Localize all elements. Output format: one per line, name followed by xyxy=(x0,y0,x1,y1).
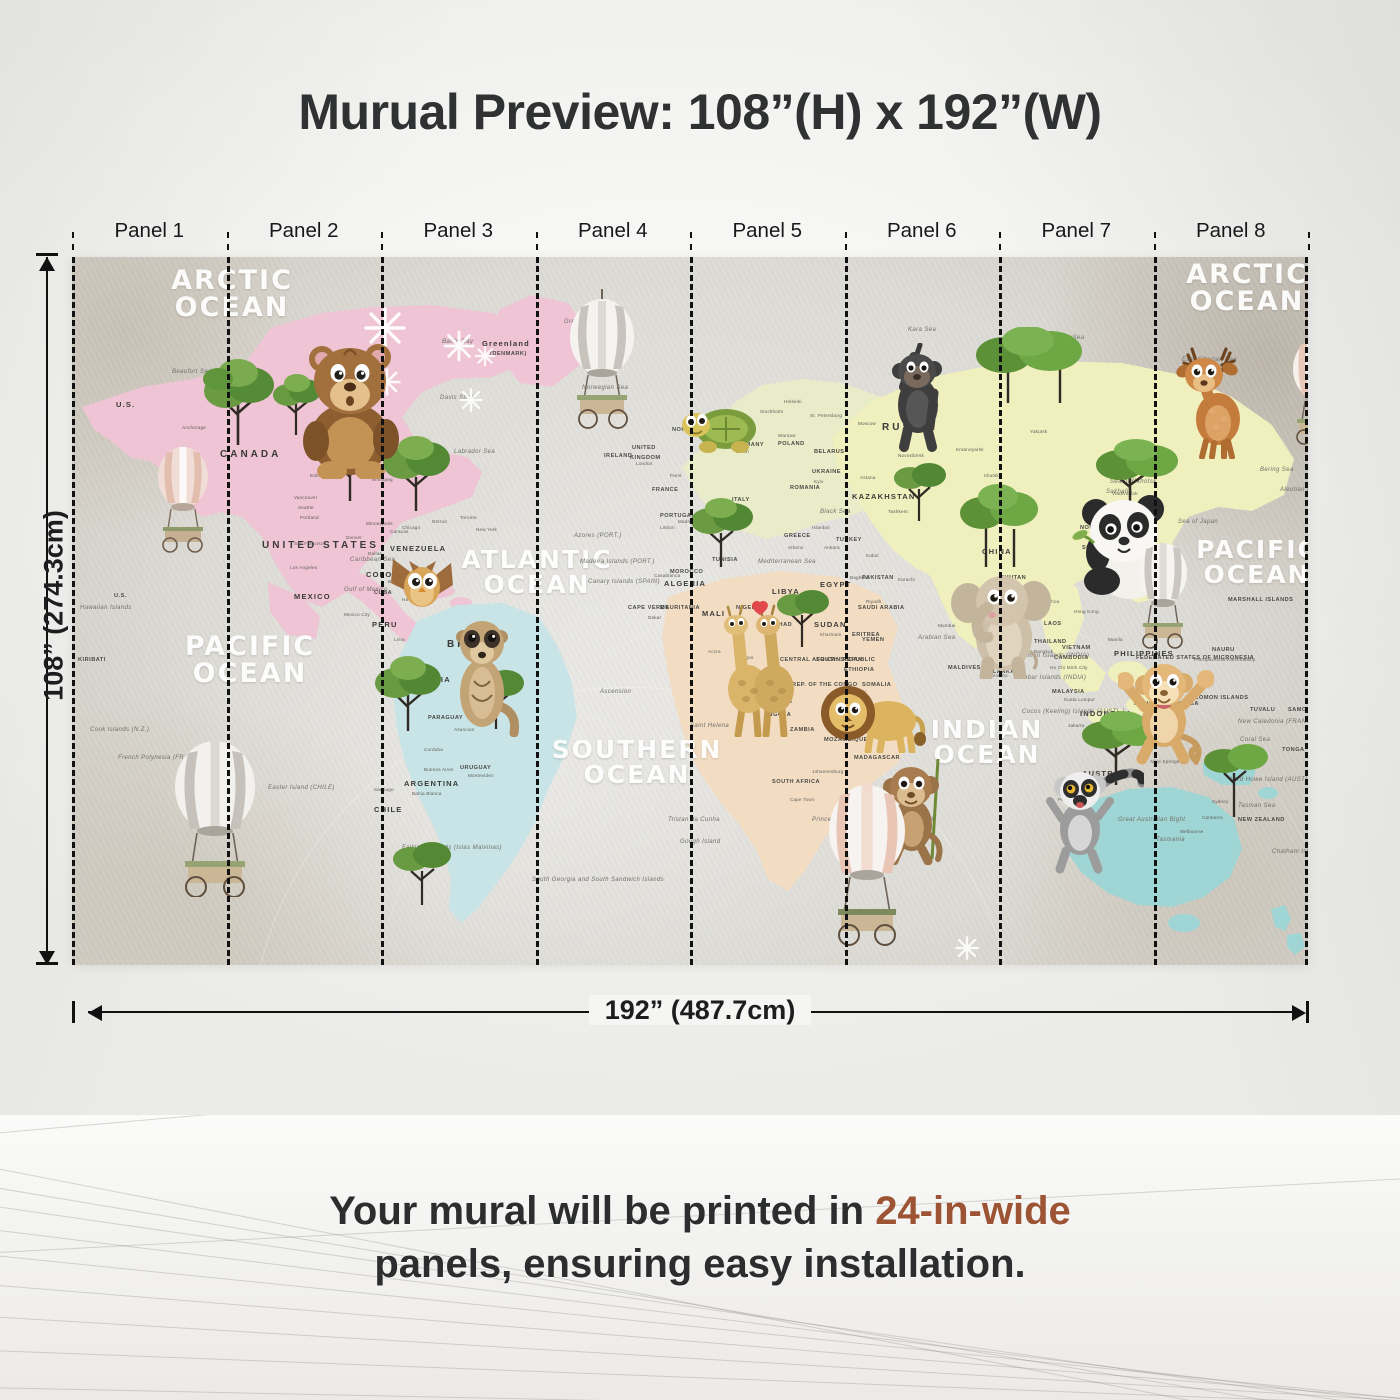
tree-icon xyxy=(972,327,1092,407)
caption-highlight: 24-in-wide xyxy=(875,1189,1071,1233)
height-arrow-up-icon xyxy=(39,257,55,271)
snowflake-icon xyxy=(458,387,484,413)
floor-plank xyxy=(0,1115,1400,1136)
panel-divider-2 xyxy=(381,257,384,965)
snowflake-icon xyxy=(954,935,980,961)
panel-label-3: Panel 3 xyxy=(381,214,536,248)
panel-divider-6 xyxy=(999,257,1002,965)
monkey-waving-character xyxy=(1118,655,1214,765)
mural-map-preview[interactable]: ARCTIC OCEAN PACIFIC OCEAN ATLANTIC OCEA… xyxy=(72,257,1308,965)
height-cap-top xyxy=(36,253,58,256)
panel-divider-right-edge xyxy=(1305,257,1308,965)
panel-label-1: Panel 1 xyxy=(72,214,227,248)
footer-caption: Your mural will be printed in 24-in-wide… xyxy=(0,1185,1400,1291)
floor-plank xyxy=(0,1293,1400,1400)
panel-label-4: Panel 4 xyxy=(536,214,691,248)
panel-label-5: Panel 5 xyxy=(690,214,845,248)
panel-divider-5 xyxy=(845,257,848,965)
panel-tick-5 xyxy=(845,232,847,250)
hot-air-balloon-cart xyxy=(154,443,212,553)
panel-tick-4 xyxy=(690,232,692,250)
meerkat-character xyxy=(442,597,522,737)
hot-air-balloon-cart xyxy=(566,289,638,429)
panel-label-8: Panel 8 xyxy=(1154,214,1309,248)
panel-tick-0 xyxy=(72,232,74,250)
panel-tick-8 xyxy=(1308,232,1310,250)
bear-character xyxy=(300,329,410,479)
snowflake-icon xyxy=(442,329,476,363)
panel-tick-6 xyxy=(999,232,1001,250)
panel-divider-1 xyxy=(227,257,230,965)
panel-tick-1 xyxy=(227,232,229,250)
height-dimension-label: 108” (274.3cm) xyxy=(39,456,70,756)
panel-label-2: Panel 2 xyxy=(227,214,382,248)
panel-divider-4 xyxy=(690,257,693,965)
panel-tick-3 xyxy=(536,232,538,250)
lion-character xyxy=(820,673,930,753)
caption-text-line2: panels, ensuring easy installation. xyxy=(374,1242,1025,1286)
page-title: Murual Preview: 108”(H) x 192”(W) xyxy=(0,83,1400,141)
hot-air-balloon-cart xyxy=(1134,539,1192,649)
giraffes-character xyxy=(712,597,802,737)
panel-tick-7 xyxy=(1154,232,1156,250)
floor-plank xyxy=(0,1335,1400,1400)
tree-icon xyxy=(390,837,454,909)
lemur-character xyxy=(1044,757,1144,877)
hot-air-balloon-cart xyxy=(170,737,260,897)
continent-new-zealand xyxy=(1257,897,1308,965)
panel-label-6: Panel 6 xyxy=(845,214,1000,248)
panel-tick-2 xyxy=(381,232,383,250)
caption-text-pre: Your mural will be printed in xyxy=(329,1189,875,1233)
panel-divider-left-edge xyxy=(72,257,75,965)
deer-character xyxy=(1170,347,1254,459)
snowflake-icon xyxy=(474,345,496,367)
panel-label-7: Panel 7 xyxy=(999,214,1154,248)
panel-divider-3 xyxy=(536,257,539,965)
wall-background: Murual Preview: 108”(H) x 192”(W) Panel … xyxy=(0,0,1400,1115)
tree-icon xyxy=(688,497,756,571)
width-dimension-label: 192” (487.7cm) xyxy=(0,995,1400,1026)
tree-icon xyxy=(890,457,948,525)
panel-divider-7 xyxy=(1154,257,1157,965)
height-cap-bottom xyxy=(36,962,58,965)
gorilla-character xyxy=(890,343,950,453)
hot-air-balloon-cart xyxy=(824,779,910,949)
